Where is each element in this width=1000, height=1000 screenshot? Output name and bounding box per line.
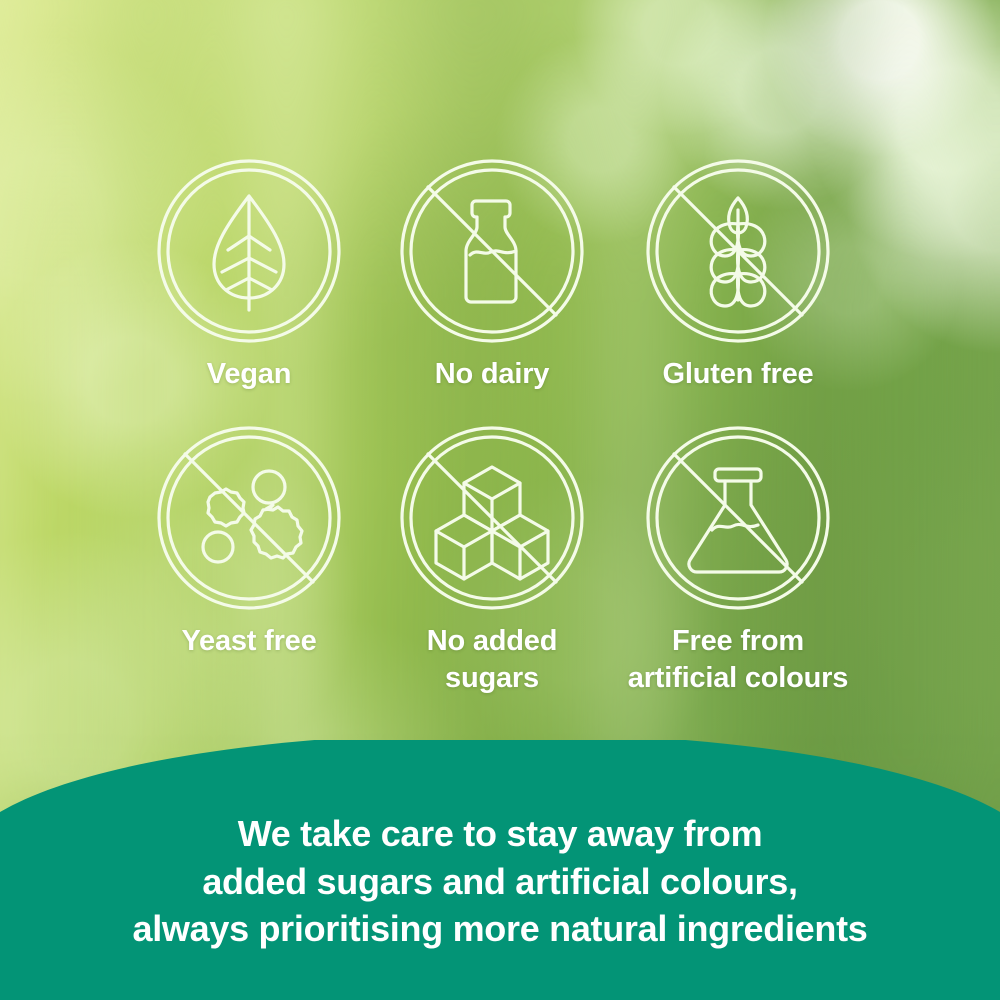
yeast-cells-icon — [156, 425, 342, 611]
badge-label: Gluten free — [613, 356, 863, 393]
badge-no-dairy: No dairy — [367, 158, 617, 393]
badge-grid: Vegan No dairy — [0, 0, 1000, 740]
sugar-cubes-icon — [399, 425, 585, 611]
badge-label: Yeast free — [124, 623, 374, 660]
wheat-icon — [645, 158, 831, 344]
badge-free-from-artificial-colours: Free from artificial colours — [613, 425, 863, 697]
leaf-icon — [156, 158, 342, 344]
badge-label: Vegan — [124, 356, 374, 393]
badge-vegan: Vegan — [124, 158, 374, 393]
badge-label: No dairy — [367, 356, 617, 393]
badge-label: Free from artificial colours — [613, 623, 863, 697]
badge-gluten-free: Gluten free — [613, 158, 863, 393]
badge-label: No added sugars — [367, 623, 617, 697]
badge-yeast-free: Yeast free — [124, 425, 374, 660]
banner-tagline: We take care to stay away from added sug… — [0, 810, 1000, 953]
promo-graphic: Vegan No dairy — [0, 0, 1000, 1000]
flask-icon — [645, 425, 831, 611]
badge-no-added-sugars: No added sugars — [367, 425, 617, 697]
milk-bottle-icon — [399, 158, 585, 344]
bottom-banner: We take care to stay away from added sug… — [0, 740, 1000, 1000]
